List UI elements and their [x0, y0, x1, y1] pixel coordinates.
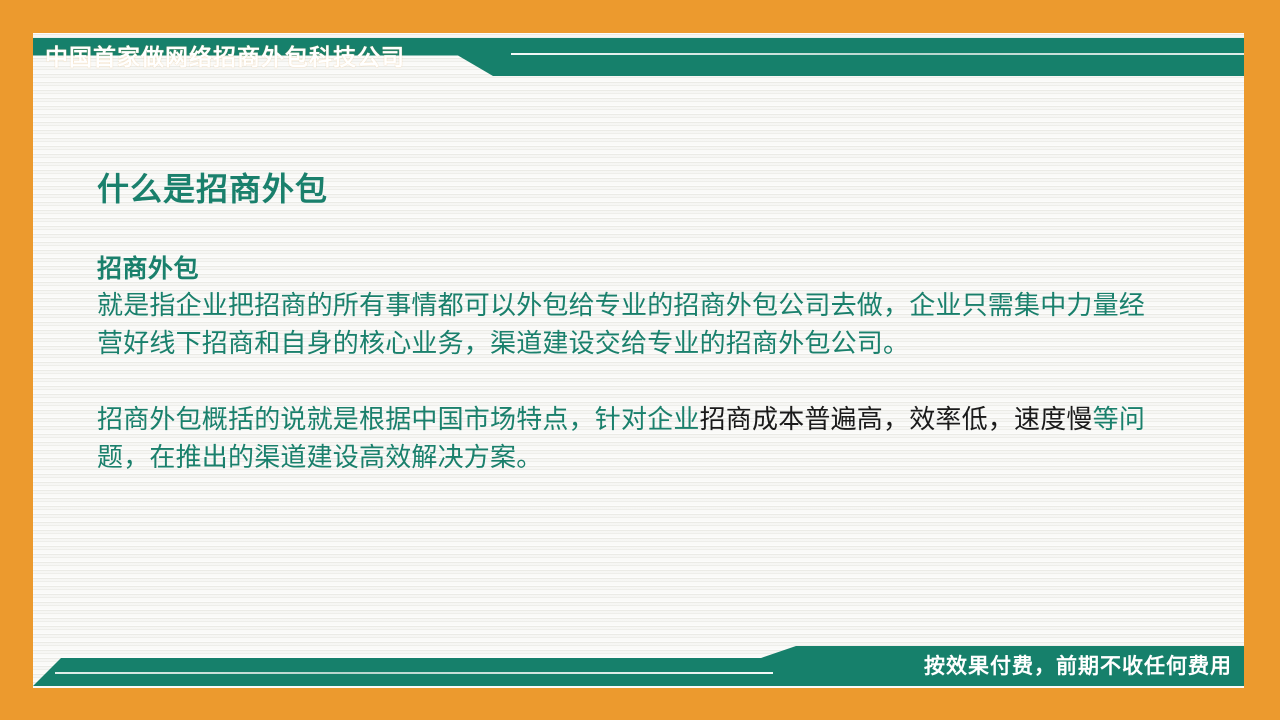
paragraph-definition: 就是指企业把招商的所有事情都可以外包给专业的招商外包公司去做，企业只需集中力量经… [97, 286, 1157, 362]
header-banner: 中国首家做网络招商外包科技公司 [33, 38, 1244, 76]
slide-root: 中国首家做网络招商外包科技公司 什么是招商外包 招商外包 就是指企业把招商的所有… [0, 0, 1280, 720]
footer-hairline-divider [55, 672, 773, 674]
footer-tagline: 按效果付费，前期不收任何费用 [924, 654, 1232, 680]
paragraph-summary-highlight: 招商成本普遍高，效率低，速度慢 [700, 404, 1093, 434]
header-title: 中国首家做网络招商外包科技公司 [45, 42, 405, 72]
paragraph-summary: 招商外包概括的说就是根据中国市场特点，针对企业招商成本普遍高，效率低，速度慢等问… [97, 400, 1157, 476]
footer-banner: 按效果付费，前期不收任何费用 [33, 646, 1244, 686]
page-title: 什么是招商外包 [97, 168, 1227, 210]
slide-content: 什么是招商外包 招商外包 就是指企业把招商的所有事情都可以外包给专业的招商外包公… [97, 168, 1227, 476]
header-hairline-divider [511, 53, 1244, 55]
paragraph-summary-part1: 招商外包概括的说就是根据中国市场特点，针对企业 [97, 404, 700, 434]
section-lead-label: 招商外包 [97, 252, 1227, 286]
